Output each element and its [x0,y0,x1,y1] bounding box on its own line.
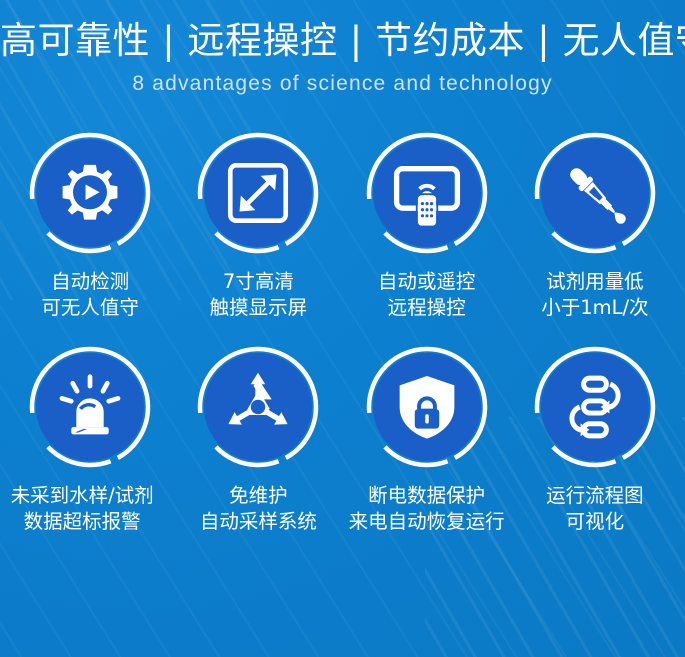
expand-screen-icon [195,130,321,256]
advantage-badge-5 [27,344,153,470]
subheadline-text: 8 advantages of science and technology [0,72,685,96]
header: 高可靠性 | 远程操控 | 节约成本 | 无人值守 8 advantages o… [0,0,685,96]
recycle-icon [195,344,321,470]
advantage-item-6[interactable]: 免维护 自动采样系统 [174,344,342,535]
gear-play-icon [27,130,153,256]
caption-line-2: 来电自动恢复运行 [349,509,505,535]
advantage-badge-8 [532,344,658,470]
advantage-item-7[interactable]: 断电数据保护 来电自动恢复运行 [343,344,511,535]
caption-line-1: 未采到水样/试剂 [11,484,154,507]
advantage-caption-5: 未采到水样/试剂 数据超标报警 [11,483,154,535]
advantage-caption-8: 运行流程图 可视化 [546,483,644,535]
caption-line-1: 运行流程图 [546,484,644,507]
pipette-dropper-icon [532,130,658,256]
advantage-item-4[interactable]: 试剂用量低 小于1mL/次 [511,130,679,321]
advantage-badge-7 [364,344,490,470]
caption-line-2: 远程操控 [378,295,476,321]
advantage-badge-1 [27,130,153,256]
advantages-row-2: 未采到水样/试剂 数据超标报警 [0,344,685,535]
alarm-siren-icon [27,344,153,470]
advantage-caption-2: 7寸高清 触摸显示屏 [210,269,308,321]
caption-line-2: 可无人值守 [41,295,139,321]
advantage-caption-1: 自动检测 可无人值守 [41,269,139,321]
advantage-item-2[interactable]: 7寸高清 触摸显示屏 [174,130,342,321]
advantage-caption-6: 免维护 自动采样系统 [200,483,317,535]
advantage-caption-4: 试剂用量低 小于1mL/次 [541,269,648,321]
headline-text: 高可靠性 | 远程操控 | 节约成本 | 无人值守 [0,20,685,63]
advantages-grid: 自动检测 可无人值守 [0,130,685,536]
caption-line-1: 自动或遥控 [378,270,476,293]
caption-line-2: 触摸显示屏 [210,295,308,321]
advantage-caption-3: 自动或遥控 远程操控 [378,269,476,321]
advantage-item-1[interactable]: 自动检测 可无人值守 [6,130,174,321]
flowchart-icon [532,344,658,470]
monitor-remote-control-icon [364,130,490,256]
caption-line-1: 试剂用量低 [546,270,644,293]
advantage-badge-3 [364,130,490,256]
caption-line-1: 免维护 [229,484,288,507]
advantage-item-3[interactable]: 自动或遥控 远程操控 [343,130,511,321]
caption-line-1: 自动检测 [51,270,129,293]
advantage-badge-4 [532,130,658,256]
caption-line-2: 数据超标报警 [11,509,154,535]
shield-lock-icon [364,344,490,470]
poster-canvas: 高可靠性 | 远程操控 | 节约成本 | 无人值守 8 advantages o… [0,0,685,657]
advantage-badge-6 [195,344,321,470]
caption-line-2: 小于1mL/次 [541,295,648,321]
advantage-item-5[interactable]: 未采到水样/试剂 数据超标报警 [6,344,174,535]
caption-line-2: 自动采样系统 [200,509,317,535]
advantage-item-8[interactable]: 运行流程图 可视化 [511,344,679,535]
advantage-caption-7: 断电数据保护 来电自动恢复运行 [349,483,505,535]
advantages-row-1: 自动检测 可无人值守 [0,130,685,321]
caption-line-1: 7寸高清 [223,270,294,293]
advantage-badge-2 [195,130,321,256]
caption-line-1: 断电数据保护 [368,484,485,507]
caption-line-2: 可视化 [546,509,644,535]
